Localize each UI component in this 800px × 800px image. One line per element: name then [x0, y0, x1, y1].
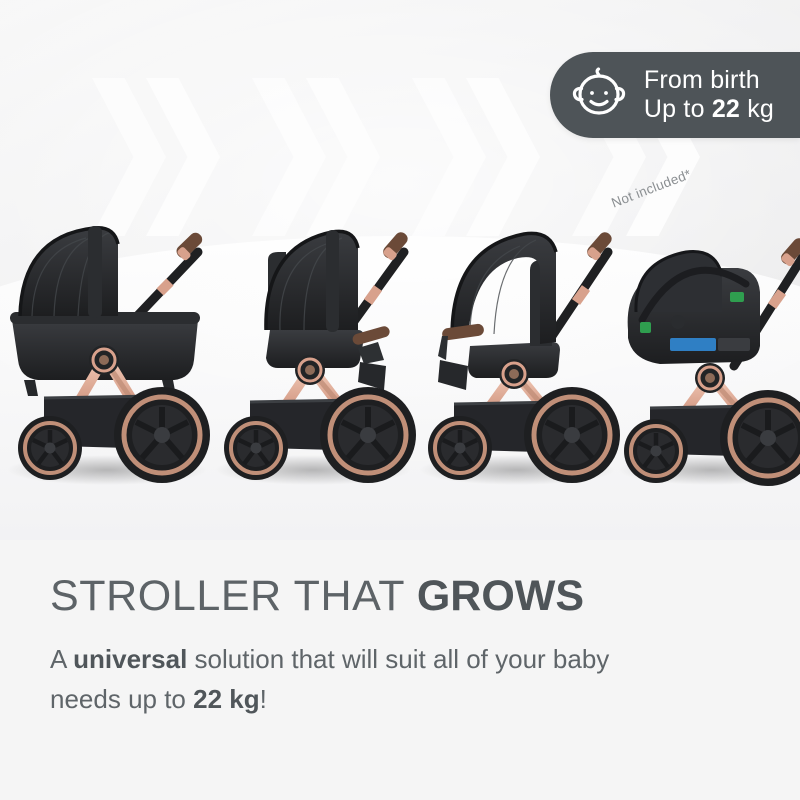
product-carrycot-pram — [2, 30, 212, 500]
headline-light-part: STROLLER THAT — [50, 572, 417, 620]
headline-bold-part: GROWS — [417, 572, 584, 620]
subcopy-emphasis: universal — [73, 644, 187, 674]
rear-wheel — [114, 387, 210, 483]
subcopy: A universal solution that will suit all … — [50, 640, 610, 719]
rear-wheel — [320, 387, 416, 483]
badge-line-1: From birth — [644, 66, 760, 94]
page-title: STROLLER THAT GROWS — [50, 572, 584, 621]
rear-wheel — [524, 387, 620, 483]
hero-section: Not included* From birth Up to 22 kg — [0, 0, 800, 540]
badge-weight-value: 22 — [712, 95, 740, 123]
front-wheel — [624, 419, 688, 483]
age-weight-badge: From birth Up to 22 kg — [550, 52, 800, 138]
product-marketing-image: Not included* From birth Up to 22 kg — [0, 0, 800, 800]
subcopy-text: ! — [260, 684, 267, 714]
copy-panel: STROLLER THAT GROWS A universal solution… — [0, 540, 800, 800]
carrycot-hood — [20, 226, 118, 318]
product-parent-facing-seat — [208, 30, 418, 500]
car-seat-shell — [628, 252, 760, 365]
baby-face-icon — [570, 66, 628, 124]
badge-text: From birth Up to 22 kg — [644, 66, 774, 125]
seat-unit — [266, 230, 391, 390]
front-wheel — [18, 416, 82, 480]
subcopy-text: A — [50, 644, 73, 674]
subcopy-emphasis: 22 kg — [193, 684, 260, 714]
front-wheel — [428, 416, 492, 480]
seat-unit — [438, 233, 560, 390]
badge-line-2-prefix: Up to — [644, 95, 712, 123]
front-wheel — [224, 416, 288, 480]
badge-line-2-suffix: kg — [740, 95, 774, 123]
